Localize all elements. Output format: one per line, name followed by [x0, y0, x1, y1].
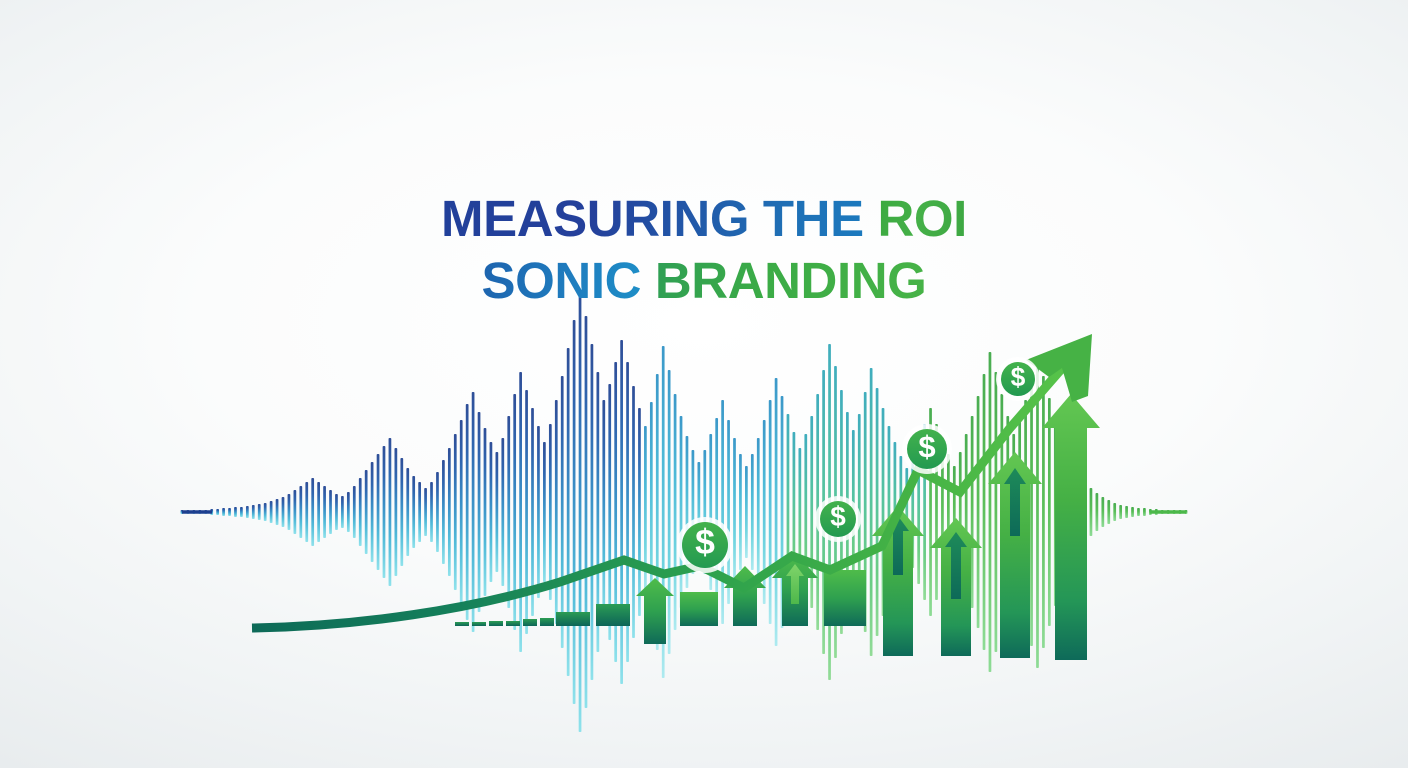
waveform-bar [1107, 500, 1110, 524]
waveform-bar [258, 504, 261, 520]
waveform-bar [311, 478, 314, 546]
waveform-bar [525, 390, 528, 634]
waveform-bar [1042, 376, 1045, 648]
waveform-bar [1131, 507, 1134, 517]
waveform-bar [299, 486, 302, 538]
waveform-bar [585, 316, 588, 708]
waveform-bar [983, 374, 986, 650]
waveform-bar [537, 426, 540, 598]
waveform-bar [1101, 497, 1104, 527]
waveform-bar [442, 460, 445, 564]
bar-2 [596, 604, 630, 626]
waveform-bar [745, 466, 748, 558]
small-bar [472, 622, 486, 626]
bar-7 [824, 570, 866, 626]
poster-canvas: $$$$ MEASURING THE ROI SONIC BRANDING [0, 0, 1408, 768]
waveform-bar [466, 404, 469, 620]
waveform-bar [347, 492, 350, 532]
waveform-bar [412, 476, 415, 548]
waveform-bar [1143, 508, 1146, 516]
waveform-bar [531, 408, 534, 616]
waveform-bar [680, 416, 683, 608]
waveform-bar [769, 400, 772, 624]
waveform-bar [1119, 505, 1122, 519]
waveform-bar [632, 386, 635, 638]
waveform-bar [418, 482, 421, 542]
waveform-bar [335, 494, 338, 530]
waveform-bar [490, 442, 493, 582]
waveform-bar [353, 486, 356, 538]
waveform-bar [501, 438, 504, 586]
waveform-bar [602, 400, 605, 624]
waveform-bar [995, 372, 998, 652]
waveform-bar [371, 462, 374, 562]
dollar-coin-label: $ [695, 522, 715, 562]
waveform-bar [341, 496, 344, 528]
waveform-bar [549, 424, 552, 600]
dollar-coin-icon: $ [996, 357, 1040, 401]
waveform-bar [620, 340, 623, 684]
waveform-bar [1090, 488, 1093, 536]
dollar-coin-icon: $ [902, 424, 952, 474]
waveform-bar [638, 408, 641, 616]
waveform-bar [1113, 503, 1116, 521]
waveform-bar [454, 434, 457, 590]
waveform-bar [377, 454, 380, 570]
waveform-bar [305, 482, 308, 542]
waveform-bar [876, 388, 879, 636]
dollar-coin-label: $ [918, 429, 935, 464]
waveform-bar [519, 372, 522, 652]
waveform-bar [977, 396, 980, 628]
waveform-bar [264, 503, 267, 521]
waveform-bar [1030, 378, 1033, 646]
dollar-coin-label: $ [830, 501, 846, 532]
waveform-bar [757, 438, 760, 586]
small-bar [489, 621, 503, 626]
waveform-bar [668, 370, 671, 654]
waveform-bar [240, 507, 243, 517]
waveform-bar [721, 400, 724, 624]
waveform-bar [775, 378, 778, 646]
waveform-bar [288, 494, 291, 530]
waveform-bar [478, 412, 481, 612]
waveform-bar [222, 508, 225, 516]
waveform-bar [573, 320, 576, 704]
waveform-bar [561, 376, 564, 648]
small-bar [540, 618, 554, 626]
waveform-bar [484, 428, 487, 596]
waveform-bar [228, 508, 231, 516]
small-bar [506, 621, 520, 626]
waveform-bar [751, 454, 754, 570]
waveform-bar [733, 438, 736, 586]
waveform-bar [400, 458, 403, 566]
dollar-coin-icon: $ [815, 496, 861, 542]
waveform-bar [317, 482, 320, 542]
roi-sonic-branding-graphic: $$$$ [0, 0, 1408, 768]
waveform-bar [430, 482, 433, 542]
waveform-bar [870, 368, 873, 656]
dollar-coin-label: $ [1011, 362, 1026, 392]
waveform-bar [1137, 508, 1140, 516]
dollar-coin-icon: $ [677, 517, 733, 573]
waveform-bar [591, 344, 594, 680]
waveform-bar [971, 416, 974, 608]
waveform-bar [1096, 493, 1099, 531]
waveform-bar [507, 416, 510, 608]
waveform-bar [810, 416, 813, 608]
small-bars-group [455, 618, 554, 626]
small-bar [455, 622, 469, 626]
waveform-bar [436, 472, 439, 552]
waveform-bar [989, 352, 992, 672]
waveform-bar [555, 400, 558, 624]
waveform-bar [383, 446, 386, 578]
waveform-bar [234, 507, 237, 517]
bar-4 [680, 592, 718, 626]
waveform-bar [359, 478, 362, 546]
bar-1 [556, 612, 590, 626]
waveform-bar [406, 468, 409, 556]
waveform-bar [1048, 398, 1051, 626]
waveform-bar [674, 394, 677, 630]
waveform-bar [543, 442, 546, 582]
waveform-bar [389, 438, 392, 586]
waveform-bar [496, 452, 499, 572]
waveform-bar [216, 509, 219, 515]
waveform-bar [323, 486, 326, 538]
waveform-bar [294, 490, 297, 534]
waveform-bar [270, 501, 273, 523]
waveform-bar [460, 420, 463, 604]
waveform-bar [246, 506, 249, 518]
waveform-bar [424, 488, 427, 536]
waveform-bar [282, 497, 285, 527]
waveform-bar [395, 448, 398, 576]
waveform-bar [1125, 506, 1128, 518]
waveform-bar [608, 384, 611, 640]
waveform-bar [329, 490, 332, 534]
waveform-bar [365, 470, 368, 554]
waveform-bar [579, 292, 582, 732]
waveform-bar [276, 499, 279, 525]
waveform-bar [472, 392, 475, 632]
waveform-bar [448, 448, 451, 576]
waveform-bar [252, 505, 255, 519]
small-bar [523, 619, 537, 626]
waveform-bar [739, 454, 742, 570]
